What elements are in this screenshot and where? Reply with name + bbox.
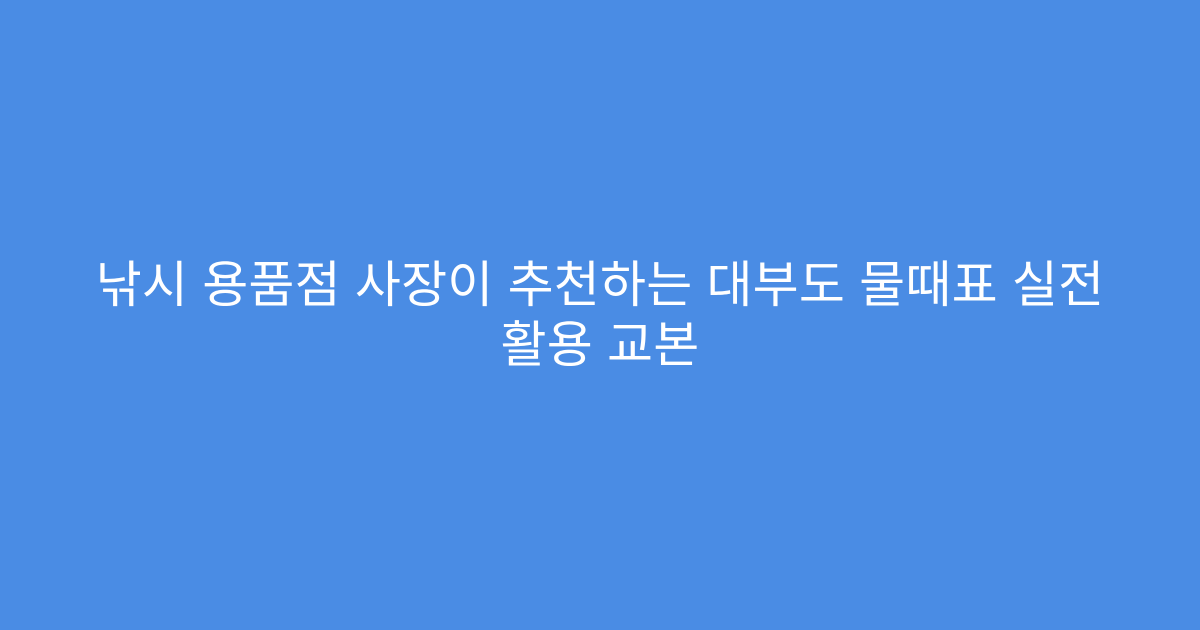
page-title: 낚시 용품점 사장이 추천하는 대부도 물때표 실전 활용 교본 xyxy=(80,255,1120,375)
headline-container: 낚시 용품점 사장이 추천하는 대부도 물때표 실전 활용 교본 xyxy=(0,255,1200,375)
banner-card: 낚시 용품점 사장이 추천하는 대부도 물때표 실전 활용 교본 xyxy=(0,0,1200,630)
